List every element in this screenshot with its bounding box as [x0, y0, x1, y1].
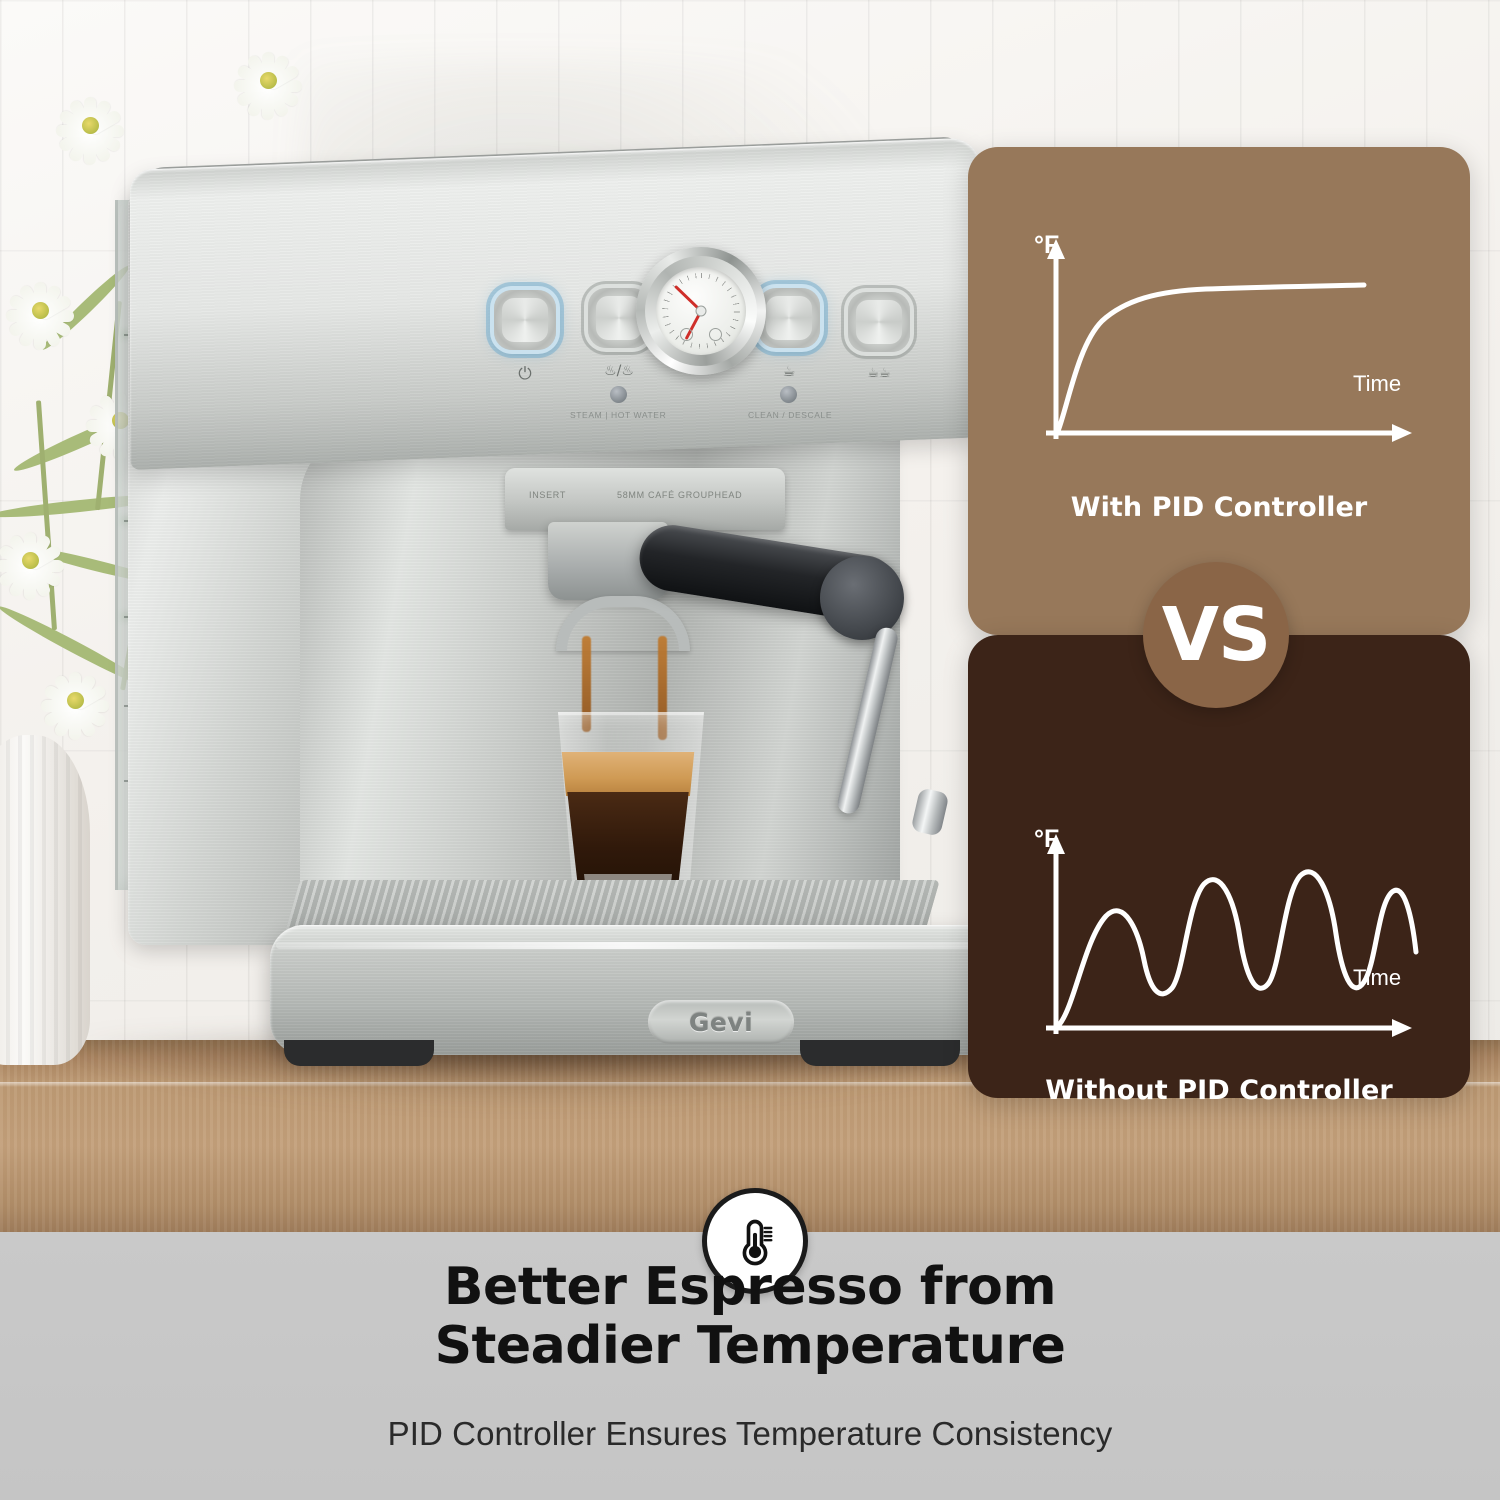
gauge-needle-cap [696, 306, 707, 317]
gauge-subdial-right [709, 328, 722, 341]
without-pid-caption: Without PID Controller [968, 1075, 1470, 1106]
without-pid-y-axis-label: °F [1034, 825, 1059, 854]
without-pid-x-axis-label: Time [1353, 965, 1401, 991]
brand-name: Gevi [689, 1008, 753, 1037]
espresso-liquid [562, 792, 694, 886]
steam-indicator-led [610, 386, 627, 403]
group-head: INSERT 58MM CAFÉ GROUPHEAD [505, 468, 785, 530]
pressure-gauge [636, 247, 766, 375]
brand-logo-plate: Gevi [648, 1000, 794, 1044]
product-marketing-image: ⏻ ♨/♨ STEAM | HOT WATER ☕ CLEAN / DESCAL… [0, 0, 1500, 1500]
gauge-face [656, 267, 746, 355]
espresso-machine: ⏻ ♨/♨ STEAM | HOT WATER ☕ CLEAN / DESCAL… [0, 0, 1040, 1120]
footer-subheadline: PID Controller Ensures Temperature Consi… [0, 1415, 1500, 1453]
steam-wand-joint[interactable] [820, 556, 904, 640]
vs-badge: VS [1143, 562, 1289, 708]
with-pid-chart [1020, 225, 1420, 475]
with-pid-x-axis-label: Time [1353, 371, 1401, 397]
clean-indicator-led [780, 386, 797, 403]
power-icon: ⏻ [505, 366, 545, 383]
steam-hot-water-label: STEAM | HOT WATER [570, 410, 666, 420]
with-pid-y-axis-label: °F [1034, 231, 1059, 260]
footer-headline: Better Espresso from Steadier Temperatur… [0, 1258, 1500, 1377]
crema-layer [556, 752, 700, 796]
with-pid-caption: With PID Controller [968, 492, 1470, 523]
without-pid-chart [1020, 820, 1420, 1070]
steam-hotwater-icon: ♨/♨ [599, 364, 639, 378]
double-cup-icon: ☕☕ [859, 367, 899, 380]
gauge-subdial-left [680, 328, 693, 341]
headline-line-2: Steadier Temperature [0, 1317, 1500, 1376]
headline-line-1: Better Espresso from [0, 1258, 1500, 1317]
double-shot-button[interactable] [848, 292, 910, 352]
power-button[interactable] [494, 290, 556, 350]
clean-descale-label: CLEAN / DESCALE [748, 410, 832, 420]
machine-foot-left [284, 1040, 434, 1066]
single-cup-icon: ☕ [769, 365, 809, 379]
insert-marking: INSERT [529, 490, 566, 500]
clean-descale-button[interactable] [758, 288, 820, 348]
base-highlight [276, 942, 974, 949]
steam-wand-tip [910, 787, 949, 837]
grouphead-marking: 58MM CAFÉ GROUPHEAD [617, 490, 742, 500]
vs-label: VS [1162, 598, 1271, 672]
machine-foot-right [800, 1040, 960, 1066]
